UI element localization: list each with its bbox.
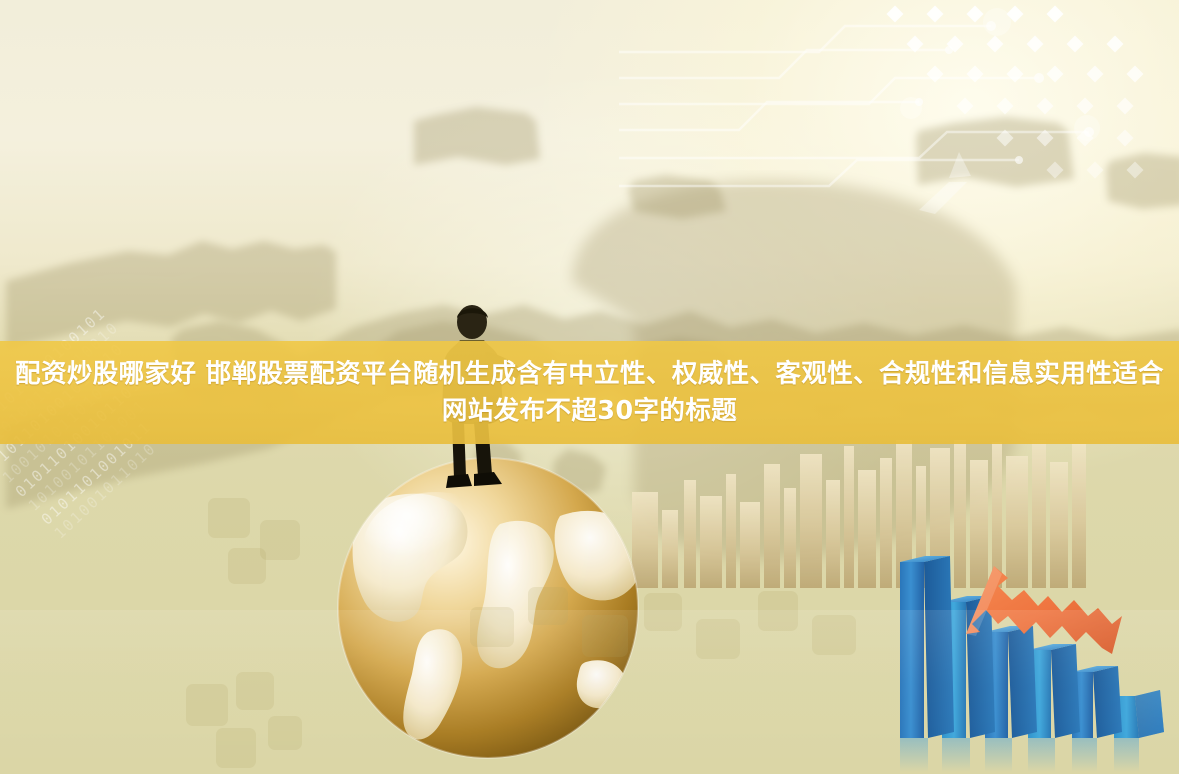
- headline-text: 配资炒股哪家好 邯郸股票配资平台随机生成含有中立性、权威性、客观性、合规性和信息…: [0, 356, 1179, 430]
- headline-line-2: 网站发布不超30字的标题: [6, 393, 1173, 430]
- diamond-dot-grid: [869, 4, 1169, 214]
- banner-image: 01001010110100101 10101001011010010 0101…: [0, 0, 1179, 774]
- decorative-squares-left: [186, 672, 306, 774]
- headline-line-1: 配资炒股哪家好 邯郸股票配资平台随机生成含有中立性、权威性、客观性、合规性和信息…: [15, 359, 1164, 389]
- headline-overlay-band: 配资炒股哪家好 邯郸股票配资平台随机生成含有中立性、权威性、客观性、合规性和信息…: [0, 341, 1179, 444]
- bar-chart-with-trend-arrow: [890, 520, 1179, 774]
